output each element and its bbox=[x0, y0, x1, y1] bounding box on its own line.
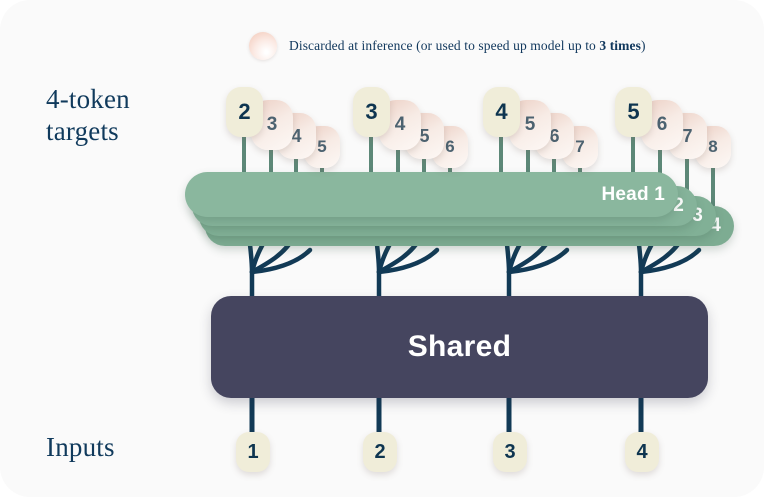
input-stems bbox=[252, 398, 641, 432]
target-token-2-1[interactable]: 3 bbox=[353, 87, 390, 137]
input-token-4[interactable]: 4 bbox=[625, 432, 659, 472]
target-token-1-1[interactable]: 2 bbox=[226, 87, 263, 137]
input-token-1[interactable]: 1 bbox=[236, 432, 270, 472]
target-token-4-1[interactable]: 5 bbox=[615, 87, 652, 137]
figure-root: Discarded at inference (or used to speed… bbox=[0, 0, 764, 497]
target-token-3-1[interactable]: 4 bbox=[483, 87, 520, 137]
shared-trunk-block[interactable]: Shared bbox=[211, 296, 708, 398]
head-bar-1[interactable]: Head 1 bbox=[185, 172, 678, 217]
shared-block-label: Shared bbox=[408, 330, 512, 364]
input-token-3[interactable]: 3 bbox=[493, 432, 527, 472]
connection-wires bbox=[0, 0, 764, 497]
input-token-2[interactable]: 2 bbox=[363, 432, 397, 472]
head-bar-1-label: Head 1 bbox=[601, 184, 665, 206]
figure-stage: Discarded at inference (or used to speed… bbox=[0, 0, 764, 497]
